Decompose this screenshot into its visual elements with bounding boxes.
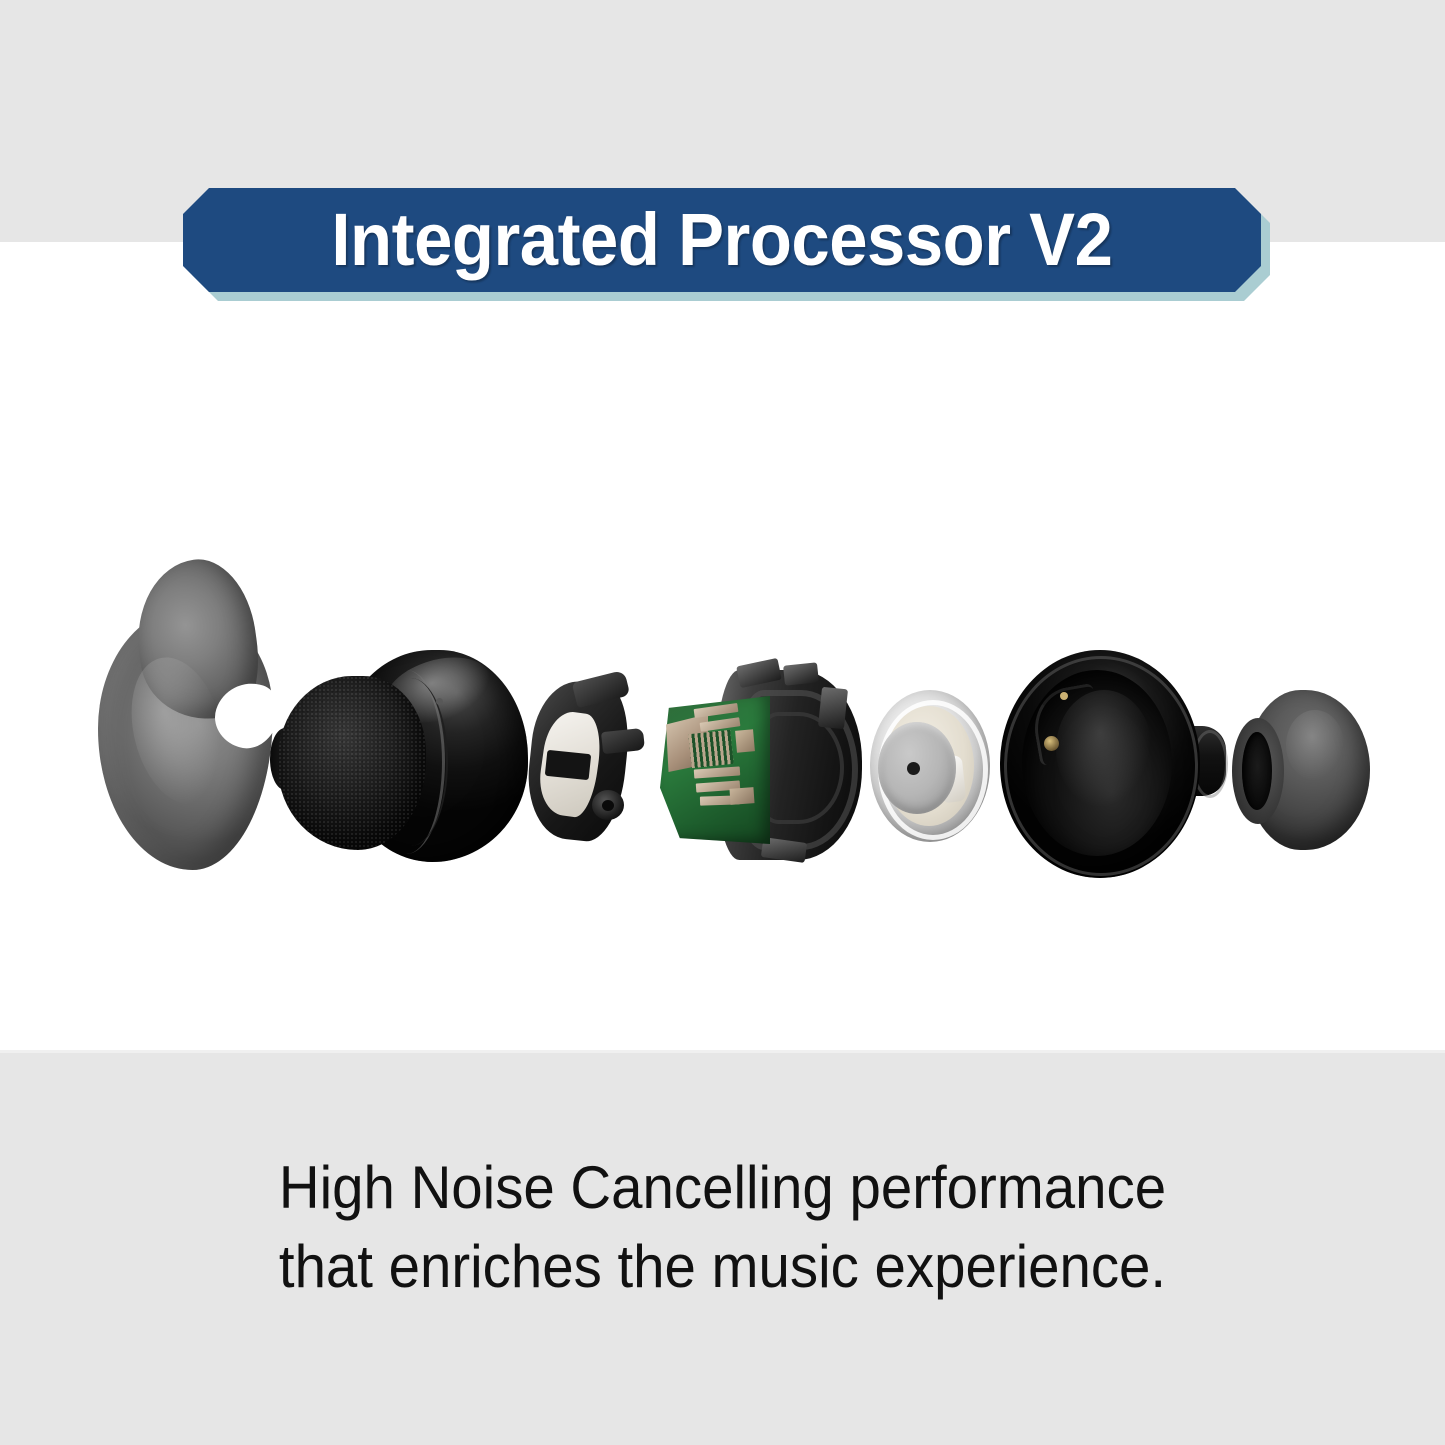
caption-line-2: that enriches the music experience.	[43, 1227, 1401, 1306]
headline-banner: Integrated Processor V2	[183, 188, 1261, 292]
product-feature-slide: Integrated Processor V2	[0, 0, 1445, 1445]
bracket-slot	[545, 750, 591, 780]
eartip-highlight	[1286, 710, 1344, 780]
chassis-tab	[818, 687, 848, 729]
pcb-chip	[735, 729, 755, 752]
pcb-connector-comb	[688, 730, 733, 768]
housing-gloss-highlight	[1056, 690, 1152, 808]
bracket-boss-hole	[602, 800, 614, 811]
eartip-bore	[1242, 732, 1272, 810]
housing-gold-contact	[1060, 692, 1068, 700]
part-housing-shell	[1000, 650, 1230, 882]
part-processor-board-and-chassis	[660, 668, 865, 863]
microphone-hole	[436, 698, 443, 705]
driver-center-hole	[907, 762, 920, 775]
foam-eartip	[278, 676, 426, 850]
banner-plate: Integrated Processor V2	[183, 188, 1261, 292]
banner-title: Integrated Processor V2	[331, 203, 1112, 277]
chassis-tab	[783, 662, 819, 685]
caption-block: High Noise Cancelling performance that e…	[0, 1148, 1445, 1306]
part-ear-fin	[98, 560, 283, 870]
part-bracket-frame	[524, 678, 646, 848]
band-divider-line	[0, 1050, 1445, 1053]
part-earbud-with-foam-tip	[278, 650, 528, 880]
caption-line-1: High Noise Cancelling performance	[43, 1148, 1401, 1227]
pcb-chip	[729, 787, 754, 805]
part-silicone-eartip	[1232, 690, 1372, 852]
part-speaker-driver	[870, 690, 1000, 845]
exploded-view-diagram	[0, 500, 1445, 960]
bracket-arm-right	[601, 728, 645, 754]
